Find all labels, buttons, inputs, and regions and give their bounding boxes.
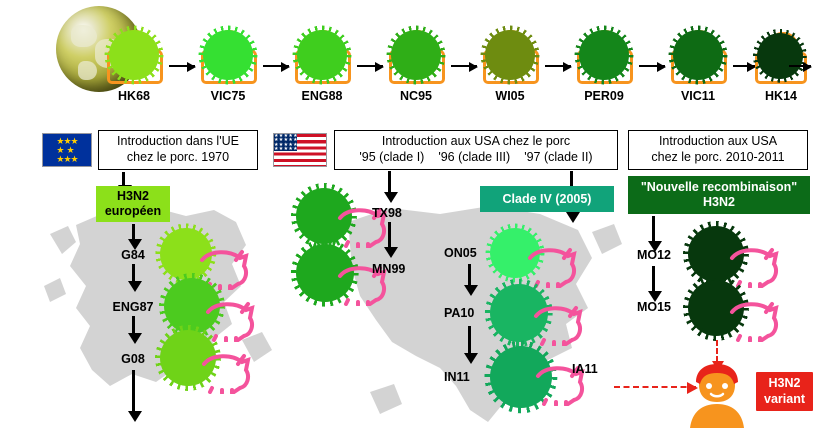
strain-label-5: PER09 <box>569 89 639 103</box>
eu-badge-line2: européen <box>105 204 161 219</box>
eu-arrow-4 <box>132 370 135 412</box>
transmission-arrow-to-human <box>614 386 696 388</box>
recomb-node-label-1: MO15 <box>628 300 680 314</box>
timeline-arrow-0 <box>169 65 195 67</box>
eu-h3n2-badge: H3N2 européen <box>96 186 170 222</box>
eu-node-label-1: ENG87 <box>102 300 164 314</box>
eu-node-label-0: G84 <box>108 248 158 262</box>
person-icon <box>686 362 748 430</box>
h3n2-variant-badge: H3N2 variant <box>756 372 813 411</box>
eu-arrow-1 <box>132 224 135 240</box>
recomb-arrow-2 <box>652 266 655 292</box>
eu-badge-line1: H3N2 <box>117 189 149 204</box>
eu-arrow-intro <box>122 172 125 186</box>
strain-label-0: HK68 <box>99 89 169 103</box>
usa-arrow-left-intro <box>388 171 391 193</box>
clade-iv-label: Clade IV (2005) <box>503 192 592 207</box>
timeline-arrow-2 <box>357 65 383 67</box>
usa-intro-clade1: '95 (clade I) <box>359 150 424 166</box>
usa-node-label-5: IA11 <box>572 362 618 376</box>
usa-arrow-right-2 <box>468 326 471 354</box>
usa-arrow-left-1 <box>388 222 391 248</box>
variant-badge-line2: variant <box>764 392 805 408</box>
timeline-arrow-6 <box>733 65 755 67</box>
recomb-node-label-0: MO12 <box>628 248 680 262</box>
usa-intro-line1: Introduction aux USA chez le porc <box>382 134 570 150</box>
recomb-badge-line1: "Nouvelle recombinaison" <box>641 180 797 195</box>
recomb-arrow-to-human <box>716 340 718 362</box>
usa-intro-clade2: '97 (clade II) <box>524 150 592 166</box>
pig-icon-eu-2 <box>198 348 254 394</box>
strain-label-7: HK14 <box>746 89 814 103</box>
timeline-arrow-5 <box>639 65 665 67</box>
usa-node-label-1: MN99 <box>372 262 424 276</box>
recomb-intro-box: Introduction aux USA chez le porc. 2010-… <box>628 130 808 170</box>
recomb-intro-line2: chez le porc. 2010-2011 <box>651 150 784 166</box>
recomb-badge-line2: H3N2 <box>703 195 735 210</box>
eu-arrow-2 <box>132 264 135 282</box>
strain-label-6: VIC11 <box>663 89 733 103</box>
eu-intro-box: Introduction dans l'UE chez le porc. 197… <box>98 130 258 170</box>
strain-label-3: NC95 <box>381 89 451 103</box>
recomb-arrow-1 <box>652 216 655 242</box>
variant-badge-line1: H3N2 <box>764 376 805 392</box>
clade-iv-badge: Clade IV (2005) <box>480 186 614 212</box>
pig-icon-recomb-1 <box>726 296 782 342</box>
eu-arrow-3 <box>132 316 135 334</box>
eu-flag-icon: ★★★★ ★★★★ <box>42 133 92 167</box>
eu-intro-line1: Introduction dans l'UE <box>117 134 239 150</box>
eu-node-label-2: G08 <box>108 352 158 366</box>
recomb-intro-line1: Introduction aux USA <box>659 134 777 150</box>
strain-label-4: WI05 <box>475 89 545 103</box>
strain-label-1: VIC75 <box>193 89 263 103</box>
pig-icon-usa-3 <box>530 300 586 346</box>
usa-intro-clade3: '96 (clade III) <box>438 150 510 166</box>
recomb-badge: "Nouvelle recombinaison" H3N2 <box>628 176 810 214</box>
usa-arrow-right-1 <box>468 264 471 286</box>
usa-node-label-0: TX98 <box>372 206 424 220</box>
usa-flag-icon: ★★★★★★★★★★★★★★★★★★★★ <box>273 133 327 167</box>
timeline-arrow-1 <box>263 65 289 67</box>
timeline-arrow-7 <box>789 65 811 67</box>
strain-label-2: ENG88 <box>287 89 357 103</box>
eu-intro-line2: chez le porc. 1970 <box>127 150 229 166</box>
timeline-arrow-3 <box>451 65 477 67</box>
timeline-arrow-4 <box>545 65 571 67</box>
usa-intro-box: Introduction aux USA chez le porc '95 (c… <box>334 130 618 170</box>
